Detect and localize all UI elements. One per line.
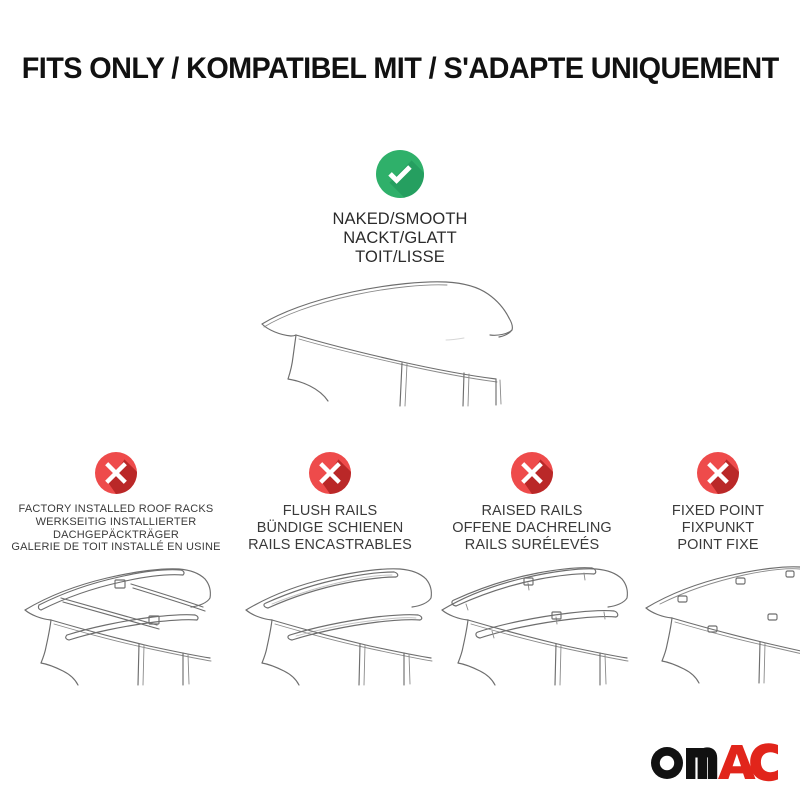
smooth-roof-illustration <box>0 278 800 408</box>
compatible-caption-line-2: NACKT/GLATT <box>0 229 800 248</box>
incompatible-item-factory-roof-racks: FACTORY INSTALLED ROOF RACKS WERKSEITIG … <box>0 452 232 554</box>
caption-line-3: DACHGEPÄCKTRÄGER <box>0 529 232 542</box>
incompatible-caption-flush-rails: FLUSH RAILS BÜNDIGE SCHIENEN RAILS ENCAS… <box>232 503 428 554</box>
incompatible-item-flush-rails: FLUSH RAILS BÜNDIGE SCHIENEN RAILS ENCAS… <box>232 452 428 554</box>
page-title: FITS ONLY / KOMPATIBEL MIT / S'ADAPTE UN… <box>22 52 779 86</box>
factory-roof-rack-illustration <box>0 552 232 687</box>
incompatible-caption-fixed-point: FIXED POINT FIXPUNKT POINT FIXE <box>636 503 800 554</box>
check-circle-icon <box>376 150 424 198</box>
compatible-section: NAKED/SMOOTH NACKT/GLATT TOIT/LISSE <box>0 150 800 267</box>
flush-rails-illustration <box>232 552 428 687</box>
caption-line-2: BÜNDIGE SCHIENEN <box>232 520 428 537</box>
incompatible-item-raised-rails: RAISED RAILS OFFENE DACHRELING RAILS SUR… <box>428 452 636 554</box>
caption-line-1: FACTORY INSTALLED ROOF RACKS <box>0 503 232 516</box>
caption-line-2: FIXPUNKT <box>636 520 800 537</box>
omac-logo <box>648 742 778 782</box>
raised-rails-illustration <box>428 552 636 687</box>
incompatible-section: FACTORY INSTALLED ROOF RACKS WERKSEITIG … <box>0 452 800 712</box>
cross-circle-icon <box>697 452 739 494</box>
caption-line-2: WERKSEITIG INSTALLIERTER <box>0 516 232 529</box>
caption-line-1: FLUSH RAILS <box>232 503 428 520</box>
compatible-caption: NAKED/SMOOTH NACKT/GLATT TOIT/LISSE <box>0 210 800 267</box>
incompatible-item-fixed-point: FIXED POINT FIXPUNKT POINT FIXE <box>636 452 800 554</box>
caption-line-1: FIXED POINT <box>636 503 800 520</box>
incompatible-caption-factory-roof-racks: FACTORY INSTALLED ROOF RACKS WERKSEITIG … <box>0 503 232 554</box>
cross-circle-icon <box>95 452 137 494</box>
fixed-point-illustration <box>636 552 800 687</box>
compatible-caption-line-3: TOIT/LISSE <box>0 248 800 267</box>
page-header: FITS ONLY / KOMPATIBEL MIT / S'ADAPTE UN… <box>0 52 800 86</box>
caption-line-2: OFFENE DACHRELING <box>428 520 636 537</box>
compatible-caption-line-1: NAKED/SMOOTH <box>0 210 800 229</box>
incompatible-caption-raised-rails: RAISED RAILS OFFENE DACHRELING RAILS SUR… <box>428 503 636 554</box>
cross-circle-icon <box>511 452 553 494</box>
caption-line-1: RAISED RAILS <box>428 503 636 520</box>
cross-circle-icon <box>309 452 351 494</box>
